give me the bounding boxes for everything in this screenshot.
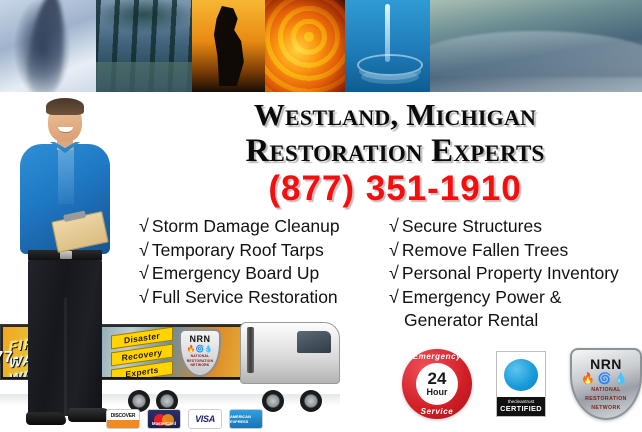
service-list-right: √Secure Structures √Remove Fallen Trees …	[389, 215, 619, 333]
badge-unit: Hour	[427, 387, 448, 397]
firefighter-photo	[192, 0, 265, 92]
badge-number: 24	[428, 371, 447, 387]
check-icon: √	[139, 287, 149, 307]
nrn-badge-title: NRN	[590, 356, 622, 372]
trousers	[28, 258, 102, 416]
service-label: Storm Damage Cleanup	[152, 216, 340, 236]
list-item: √Temporary Roof Tarps	[139, 239, 340, 263]
headline-line-2: Restoration Experts	[148, 133, 642, 169]
hurricane-palms-photo	[96, 0, 192, 92]
amex-card-icon: AMERICAN EXPRESS	[229, 409, 263, 429]
fire-flames-photo	[265, 0, 345, 92]
fire-wind-water-icons: 🔥🌀💧	[581, 372, 631, 385]
nrn-badge-line-2: RESTORATION	[585, 396, 627, 403]
visa-card-icon: VISA	[188, 409, 222, 429]
service-label-wrap: Generator Rental	[389, 309, 619, 333]
check-icon: √	[139, 263, 149, 283]
truck-cab	[240, 322, 340, 384]
list-item: √Emergency Board Up	[139, 262, 340, 286]
mastercard-label: MasterCard	[152, 421, 176, 426]
service-list-left: √Storm Damage Cleanup √Temporary Roof Ta…	[139, 215, 340, 309]
salesman-photo	[6, 100, 122, 428]
list-item: √Secure Structures	[389, 215, 619, 239]
tornado-photo	[0, 0, 96, 92]
cleantrust-certified-badge: thecleantrust CERTIFIED	[496, 351, 546, 417]
emergency-bottom-label: Service	[402, 407, 472, 416]
discover-card-icon: DISCOVER	[106, 409, 140, 429]
check-icon: √	[389, 263, 399, 283]
service-label: Temporary Roof Tarps	[152, 240, 324, 260]
payment-methods: DISCOVER MasterCard VISA AMERICAN EXPRES…	[106, 409, 263, 429]
service-label: Secure Structures	[402, 216, 542, 236]
certification-badges: Emergency 24 Hour Service thecleantrust …	[402, 348, 642, 420]
ocean-wave-photo	[430, 0, 642, 92]
list-item: √Personal Property Inventory	[389, 262, 619, 286]
wheel	[300, 390, 322, 412]
water-drop-photo	[345, 0, 430, 92]
cleantrust-status: CERTIFIED	[497, 404, 545, 413]
globe-icon	[504, 359, 538, 391]
check-icon: √	[139, 216, 149, 236]
service-label: Personal Property Inventory	[402, 263, 619, 283]
service-label: Emergency Board Up	[152, 263, 319, 283]
badge-inner: 24 Hour	[416, 363, 458, 405]
check-icon: √	[389, 287, 399, 307]
check-icon: √	[389, 240, 399, 260]
service-label: Remove Fallen Trees	[402, 240, 568, 260]
hero-photo-strip	[0, 0, 642, 92]
nrn-title: NRN	[181, 334, 219, 344]
list-item: √Emergency Power & Generator Rental	[389, 286, 619, 333]
cleantrust-label-block: thecleantrust CERTIFIED	[497, 397, 545, 416]
emergency-24-hour-badge: Emergency 24 Hour Service	[402, 349, 472, 419]
exhaust-stack-icon	[247, 327, 254, 373]
shoe-left	[26, 412, 66, 425]
amex-label: AMERICAN EXPRESS	[230, 414, 262, 424]
nrn-sub-3: NETWORK	[181, 363, 219, 368]
page-title: Westland, Michigan Restoration Experts	[148, 97, 642, 169]
check-icon: √	[139, 240, 149, 260]
visa-label: VISA	[195, 414, 215, 424]
cab-window	[297, 331, 331, 353]
nrn-shield-icon-truck: NRN 🔥🌀💧 NATIONAL RESTORATION NETWORK	[179, 329, 221, 377]
emergency-top-label: Emergency	[402, 352, 472, 361]
service-label: Emergency Power &	[402, 287, 562, 307]
service-label: Full Service Restoration	[152, 287, 338, 307]
list-item: √Remove Fallen Trees	[389, 239, 619, 263]
mastercard-icon: MasterCard	[147, 409, 181, 429]
nrn-shield-badge: NRN 🔥🌀💧 NATIONAL RESTORATION NETWORK	[570, 348, 642, 420]
headline-line-1: Westland, Michigan	[254, 97, 536, 132]
list-item: √Storm Damage Cleanup	[139, 215, 340, 239]
nrn-badge-line-3: NETWORK	[591, 405, 621, 412]
discover-label: DISCOVER	[111, 413, 136, 419]
list-item: √Full Service Restoration	[139, 286, 340, 310]
ad-banner: Westland, Michigan Restoration Experts (…	[0, 0, 642, 432]
fire-wind-water-icons: 🔥🌀💧	[181, 345, 219, 353]
phone-number[interactable]: (877) 351-1910	[148, 169, 642, 209]
nrn-badge-line-1: NATIONAL	[591, 387, 621, 394]
check-icon: √	[389, 216, 399, 236]
hair	[46, 98, 84, 115]
wheel	[262, 390, 284, 412]
